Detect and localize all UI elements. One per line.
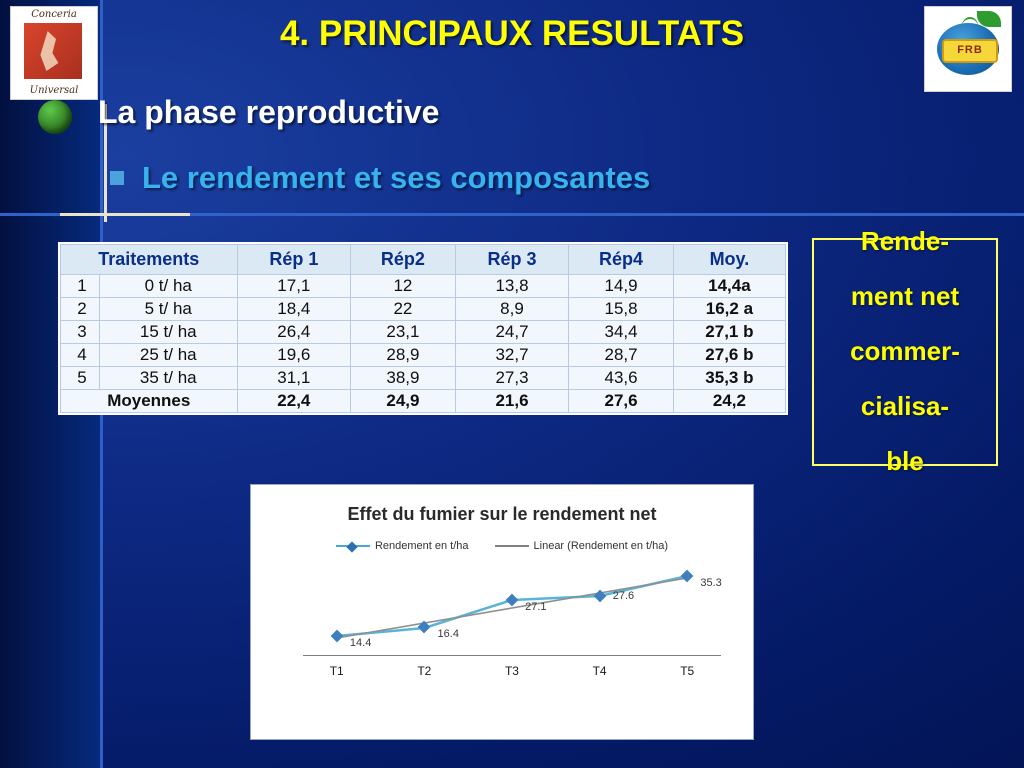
cell-rep2: 22 (351, 298, 455, 321)
legend-line-marker-icon (336, 545, 370, 547)
cell-rep4: 34,4 (569, 321, 673, 344)
annotation-text: Rende-ment netcommer-cialisa-ble (850, 228, 960, 476)
legend-label-trend: Linear (Rendement en t/ha) (534, 540, 669, 552)
legend-label-series: Rendement en t/ha (375, 540, 469, 552)
annotation-line-4: cialisa- (850, 393, 960, 421)
chart-series-line (275, 558, 729, 678)
cell-index: 2 (61, 298, 100, 321)
slide: Conceria Universal FRB 4. PRINCIPAUX RES… (0, 0, 1024, 768)
col-header-rep1: Rép 1 (237, 245, 351, 275)
cell-rep1: 31,1 (237, 367, 351, 390)
bullet-row: Le rendement et ses composantes (110, 160, 650, 196)
cell-totals-rep3: 21,6 (455, 390, 569, 413)
cell-traitement: 5 t/ ha (100, 298, 238, 321)
cell-rep1: 17,1 (237, 275, 351, 298)
cell-rep2: 23,1 (351, 321, 455, 344)
slide-subtitle: La phase reproductive (98, 94, 439, 131)
cell-rep2: 38,9 (351, 367, 455, 390)
chart-x-axis (303, 655, 721, 656)
cell-rep3: 8,9 (455, 298, 569, 321)
cell-index: 5 (61, 367, 100, 390)
cell-totals-rep1: 22,4 (237, 390, 351, 413)
cell-traitement: 25 t/ ha (100, 344, 238, 367)
logo-left-bottom-text: Universal (11, 85, 97, 96)
cell-traitement: 0 t/ ha (100, 275, 238, 298)
cell-totals-label: Moyennes (61, 390, 238, 413)
chart-container: Effet du fumier sur le rendement net Ren… (250, 484, 754, 740)
cell-rep3: 13,8 (455, 275, 569, 298)
table-header-row: Traitements Rép 1 Rép2 Rép 3 Rép4 Moy. (61, 245, 786, 275)
cell-moyenne: 27,6 b (673, 344, 785, 367)
legend-line-plain-icon (495, 545, 529, 547)
data-label-t1: 14.4 (350, 637, 371, 649)
annotation-line-2: ment net (850, 283, 960, 311)
cell-rep4: 28,7 (569, 344, 673, 367)
cell-rep3: 32,7 (455, 344, 569, 367)
annotation-line-3: commer- (850, 338, 960, 366)
cell-moyenne: 14,4a (673, 275, 785, 298)
cell-moyenne: 35,3 b (673, 367, 785, 390)
slide-title: 4. PRINCIPAUX RESULTATS (0, 14, 1024, 54)
x-tick-t4: T4 (593, 664, 607, 678)
table-row: 5 35 t/ ha 31,1 38,9 27,3 43,6 35,3 b (61, 367, 786, 390)
table-row: 2 5 t/ ha 18,4 22 8,9 15,8 16,2 a (61, 298, 786, 321)
cell-rep4: 14,9 (569, 275, 673, 298)
data-label-t5: 35.3 (700, 577, 721, 589)
cell-totals-rep2: 24,9 (351, 390, 455, 413)
cell-totals-moy: 24,2 (673, 390, 785, 413)
legend-item-trend: Linear (Rendement en t/ha) (495, 540, 669, 552)
table-row: 3 15 t/ ha 26,4 23,1 24,7 34,4 27,1 b (61, 321, 786, 344)
cell-totals-rep4: 27,6 (569, 390, 673, 413)
cell-traitement: 35 t/ ha (100, 367, 238, 390)
table-body: 1 0 t/ ha 17,1 12 13,8 14,9 14,4a 2 5 t/… (61, 275, 786, 413)
bullet-square-icon (110, 171, 124, 185)
cell-rep3: 24,7 (455, 321, 569, 344)
x-tick-t3: T3 (505, 664, 519, 678)
bullet-label: Le rendement et ses composantes (142, 160, 650, 196)
cell-moyenne: 27,1 b (673, 321, 785, 344)
chart-title: Effet du fumier sur le rendement net (251, 503, 753, 526)
cell-rep4: 43,6 (569, 367, 673, 390)
x-tick-t1: T1 (330, 664, 344, 678)
chart-legend: Rendement en t/ha Linear (Rendement en t… (251, 540, 753, 552)
horizontal-accent-line (60, 213, 190, 216)
cell-rep1: 26,4 (237, 321, 351, 344)
annotation-line-5: ble (850, 448, 960, 476)
cell-rep3: 27,3 (455, 367, 569, 390)
cell-index: 4 (61, 344, 100, 367)
annotation-line-1: Rende- (850, 228, 960, 256)
table-row: 1 0 t/ ha 17,1 12 13,8 14,9 14,4a (61, 275, 786, 298)
cell-rep4: 15,8 (569, 298, 673, 321)
cell-rep1: 19,6 (237, 344, 351, 367)
x-tick-t2: T2 (417, 664, 431, 678)
cell-index: 1 (61, 275, 100, 298)
data-label-t4: 27.6 (613, 590, 634, 602)
table-row: 4 25 t/ ha 19,6 28,9 32,7 28,7 27,6 b (61, 344, 786, 367)
annotation-box: Rende-ment netcommer-cialisa-ble (812, 238, 998, 466)
cell-traitement: 15 t/ ha (100, 321, 238, 344)
results-table-wrapper: Traitements Rép 1 Rép2 Rép 3 Rép4 Moy. 1… (58, 242, 788, 415)
col-header-moy: Moy. (673, 245, 785, 275)
col-header-rep4: Rép4 (569, 245, 673, 275)
legend-item-series: Rendement en t/ha (336, 540, 469, 552)
results-table: Traitements Rép 1 Rép2 Rép 3 Rép4 Moy. 1… (60, 244, 786, 413)
green-globe-icon (38, 100, 72, 134)
col-header-rep3: Rép 3 (455, 245, 569, 275)
col-header-traitements: Traitements (61, 245, 238, 275)
table-totals-row: Moyennes 22,4 24,9 21,6 27,6 24,2 (61, 390, 786, 413)
data-label-t3: 27.1 (525, 601, 546, 613)
cell-rep2: 28,9 (351, 344, 455, 367)
cell-moyenne: 16,2 a (673, 298, 785, 321)
table-head: Traitements Rép 1 Rép2 Rép 3 Rép4 Moy. (61, 245, 786, 275)
col-header-rep2: Rép2 (351, 245, 455, 275)
cell-rep2: 12 (351, 275, 455, 298)
cell-rep1: 18,4 (237, 298, 351, 321)
x-tick-t5: T5 (680, 664, 694, 678)
data-label-t2: 16.4 (438, 628, 459, 640)
chart-plot-area: 14.4 16.4 27.1 27.6 35.3 T1 T2 T3 T4 T5 (275, 558, 729, 678)
cell-index: 3 (61, 321, 100, 344)
